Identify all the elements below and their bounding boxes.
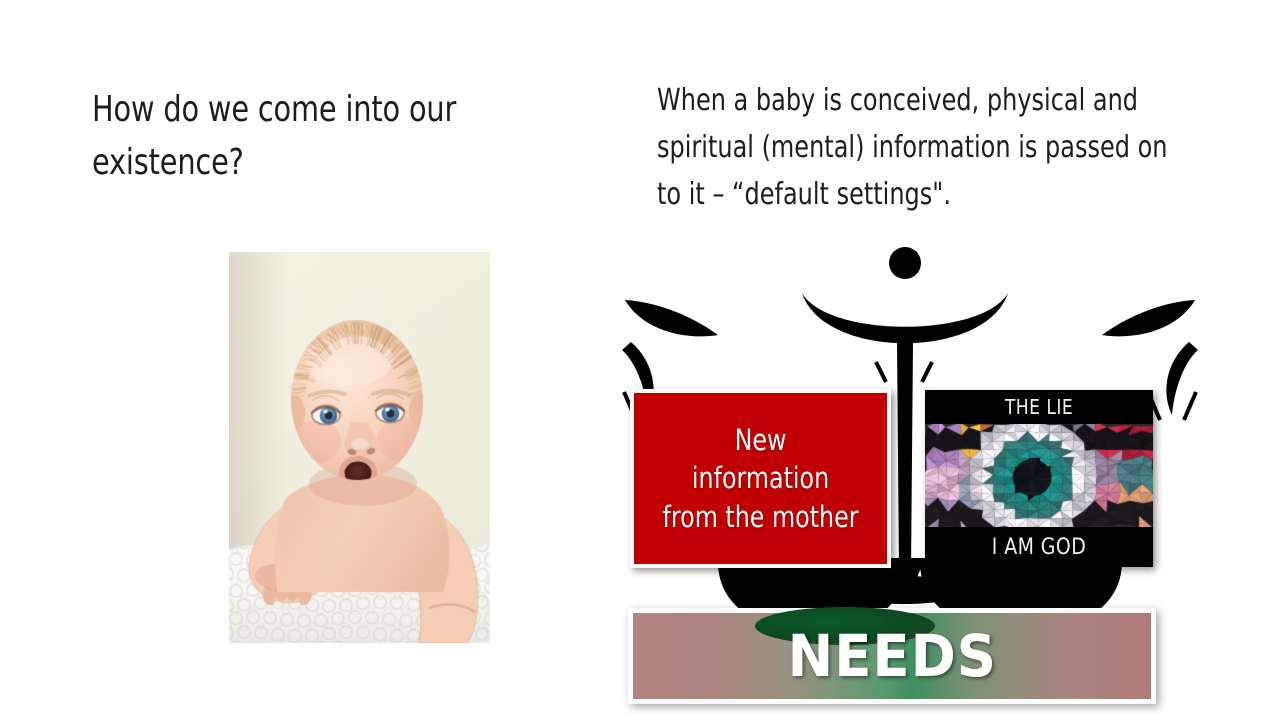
scale-knob-icon <box>889 247 921 279</box>
i-am-god-caption-bottom: I AM GOD <box>941 527 1137 567</box>
new-information-box[interactable]: New information from the mother <box>630 389 891 568</box>
scale-left-arm-icon <box>625 300 718 336</box>
baby-photo-image <box>229 252 490 643</box>
scale-right-arm-icon <box>1102 300 1195 336</box>
scale-post-icon <box>897 343 913 570</box>
scale-left-box-string-a <box>876 362 886 382</box>
needs-bar[interactable]: NEEDS <box>628 608 1156 704</box>
low-poly-eye-canvas <box>925 424 1153 527</box>
the-lie-caption-top: THE LIE <box>941 390 1137 424</box>
scale-beam-icon <box>802 293 1008 343</box>
new-information-label: New information from the mother <box>662 421 858 536</box>
low-poly-eye-image <box>925 424 1153 527</box>
scale-right-string-b <box>1184 392 1196 420</box>
scale-right-hook-icon <box>1166 342 1198 415</box>
scale-base-ellipse-icon <box>843 576 967 604</box>
the-lie-box[interactable]: THE LIE I AM GOD <box>925 390 1153 567</box>
baby-photo <box>229 252 490 643</box>
body-paragraph: When a baby is conceived, physical and s… <box>657 78 1169 218</box>
slide-canvas: How do we come into our existence? When … <box>0 0 1280 720</box>
scale-left-box-string-b <box>922 362 932 382</box>
page-title: How do we come into our existence? <box>92 84 468 189</box>
needs-label: NEEDS <box>787 622 996 690</box>
